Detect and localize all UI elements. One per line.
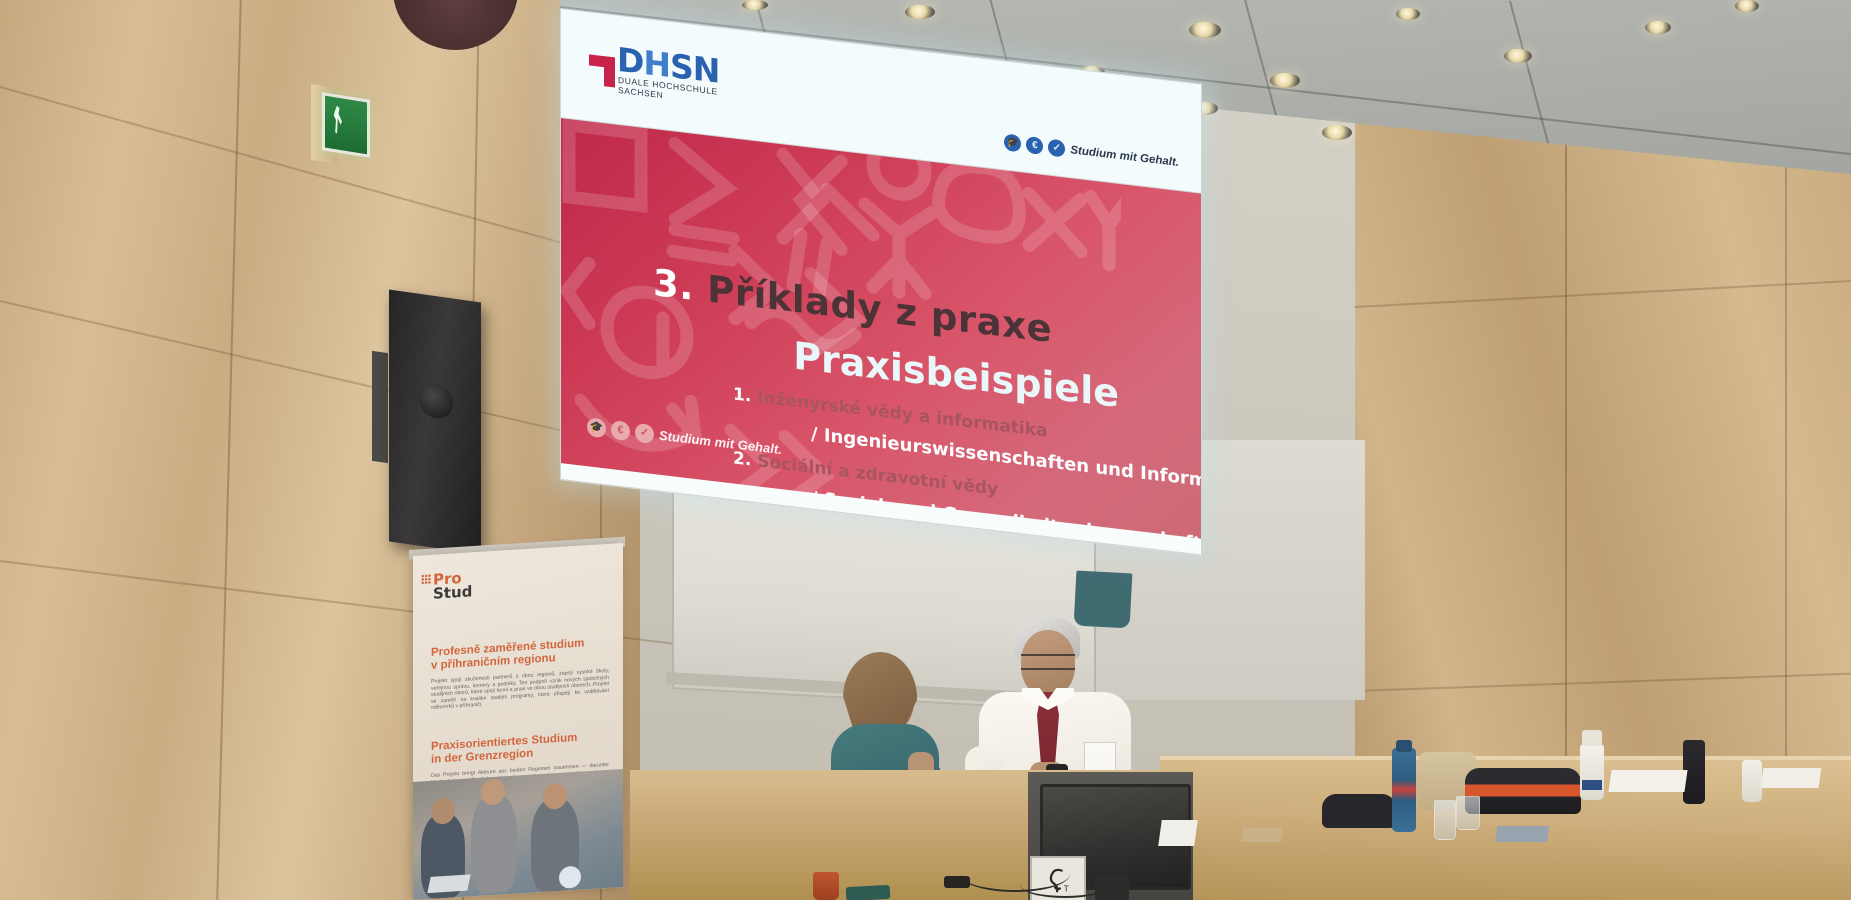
- laptop: [427, 874, 470, 893]
- banner-body-cz: Projekt spojí zkušenosti partnerů z obou…: [431, 668, 609, 712]
- wall-speaker: [389, 290, 481, 555]
- water-bottle: [1392, 748, 1416, 832]
- logo-mark-stem: [604, 56, 615, 87]
- speaker-mount: [372, 351, 388, 463]
- ceiling-downlight: [1645, 21, 1671, 34]
- papers-on-desk: [1761, 768, 1822, 788]
- cup: [813, 872, 839, 900]
- jacket: [1322, 794, 1396, 828]
- cable-connector: [944, 876, 970, 888]
- desk-cable: [1020, 872, 1110, 898]
- drinking-glass: [1456, 796, 1480, 830]
- speaker-cone-icon: [419, 382, 453, 421]
- ceiling-downlight: [1504, 49, 1532, 63]
- dhsn-logo: DHSN DUALE HOCHSCHULE SACHSEN: [589, 36, 749, 119]
- badge-text: Studium mit Gehalt.: [1070, 144, 1179, 169]
- lecture-hall-scene: DHSN DUALE HOCHSCHULE SACHSEN 🎓 € ✓ Stud…: [0, 0, 1851, 900]
- graduation-cap-icon: 🎓: [1004, 133, 1021, 152]
- paper-sheet: [1241, 828, 1283, 842]
- studium-mit-gehalt-badge-top: 🎓 € ✓ Studium mit Gehalt.: [1004, 133, 1179, 171]
- drinking-glass: [1434, 800, 1456, 840]
- heading-number: 3.: [653, 261, 694, 309]
- running-man-icon: [333, 105, 343, 135]
- man-glasses: [1021, 654, 1075, 670]
- sanitizer-pump: [1582, 730, 1602, 746]
- hand-sanitizer-bottle: [1580, 744, 1604, 800]
- graduation-cap-icon: 🎓: [587, 417, 606, 438]
- slide-body: 3. Příklady z praxe Praxisbeispiele 1. I…: [561, 118, 1201, 555]
- ceiling-downlight: [1396, 8, 1420, 20]
- banner-photo: [413, 769, 623, 900]
- emergency-exit-sign: [322, 92, 370, 158]
- jacket: [1465, 768, 1581, 814]
- euro-icon: €: [1026, 136, 1043, 155]
- shield-check-icon: ✓: [1048, 139, 1065, 158]
- ceiling-downlight: [1322, 125, 1352, 140]
- ball: [559, 866, 581, 889]
- student-figure: [471, 794, 517, 895]
- projection-screen-area: DHSN DUALE HOCHSCHULE SACHSEN 🎓 € ✓ Stud…: [560, 8, 1200, 488]
- sanitizer-label: [1582, 780, 1602, 790]
- prostud-rollup-banner: Pro Stud Profesně zaměřené studium v pří…: [413, 543, 623, 900]
- ceiling-downlight: [1270, 73, 1300, 88]
- logo-part2: Stud: [433, 584, 472, 600]
- hanging-cloth: [1074, 571, 1133, 629]
- mobile-phone: [846, 885, 891, 900]
- small-bottle: [1742, 760, 1762, 802]
- projection-screen: DHSN DUALE HOCHSCHULE SACHSEN 🎓 € ✓ Stud…: [560, 8, 1202, 556]
- logo-dots-icon: [421, 574, 431, 585]
- paper-sheet: [1158, 820, 1198, 846]
- bottle-cap: [1396, 740, 1412, 752]
- item-number: 1.: [733, 384, 751, 406]
- shield-check-icon: ✓: [635, 423, 654, 444]
- mousepad: [1495, 826, 1549, 842]
- ceiling-downlight: [1735, 0, 1759, 12]
- papers-on-desk: [1608, 770, 1687, 792]
- prostud-logo: Pro Stud: [433, 570, 472, 600]
- euro-icon: €: [611, 420, 630, 441]
